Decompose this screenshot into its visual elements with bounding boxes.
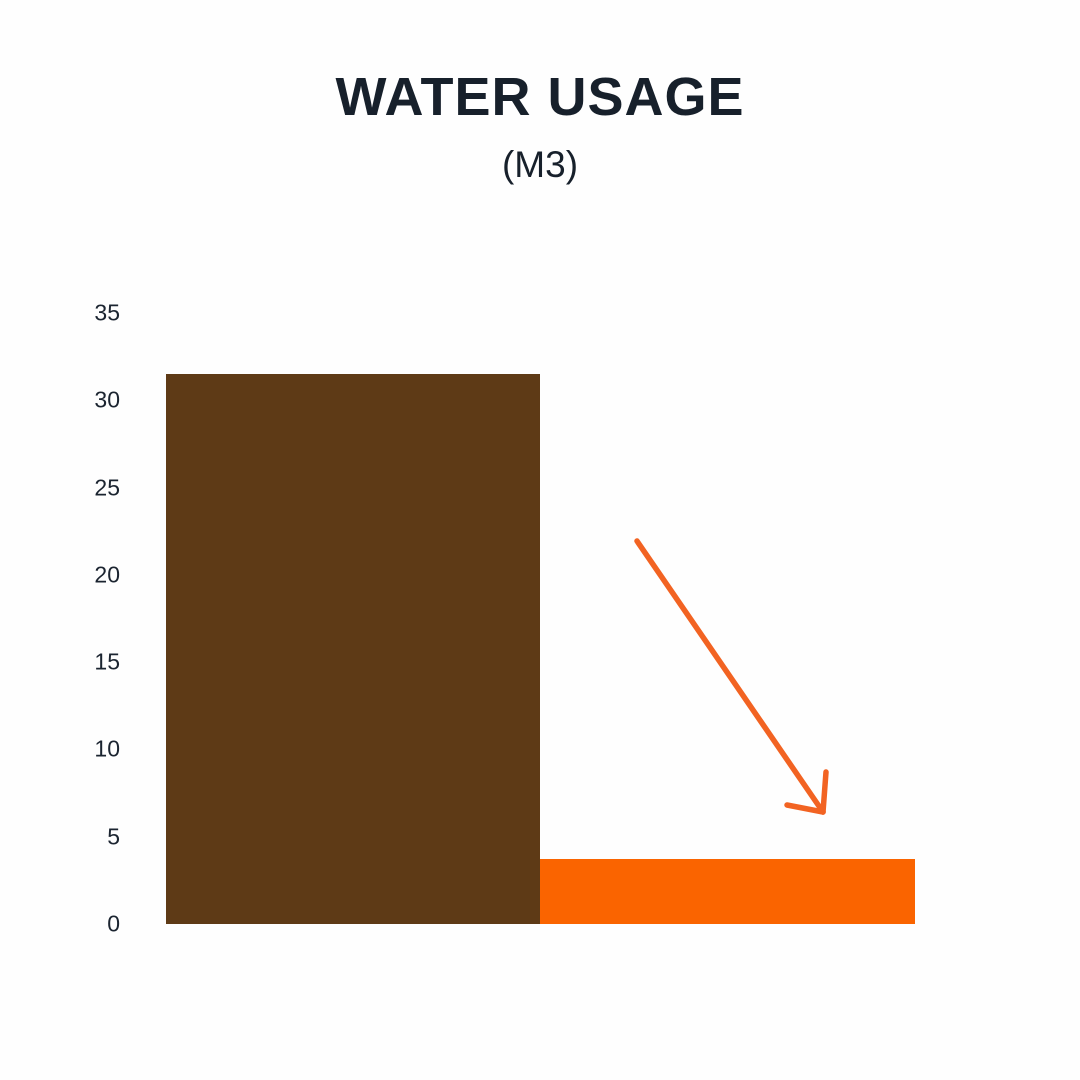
y-tick-label: 35 (60, 301, 120, 324)
downward-trend-arrow-icon (637, 541, 826, 812)
y-tick-label: 0 (60, 913, 120, 936)
y-tick-label: 30 (60, 389, 120, 412)
y-tick-label: 20 (60, 563, 120, 586)
plot-area: 05101520253035 (0, 0, 1080, 1080)
y-tick-label: 5 (60, 825, 120, 848)
chart-canvas: WATER USAGE (M3) 05101520253035 (0, 0, 1080, 1080)
y-axis: 05101520253035 (48, 0, 120, 1080)
bar-before (166, 374, 540, 924)
y-tick-label: 15 (60, 651, 120, 674)
bar-after (540, 859, 915, 924)
y-tick-label: 10 (60, 738, 120, 761)
y-tick-label: 25 (60, 476, 120, 499)
